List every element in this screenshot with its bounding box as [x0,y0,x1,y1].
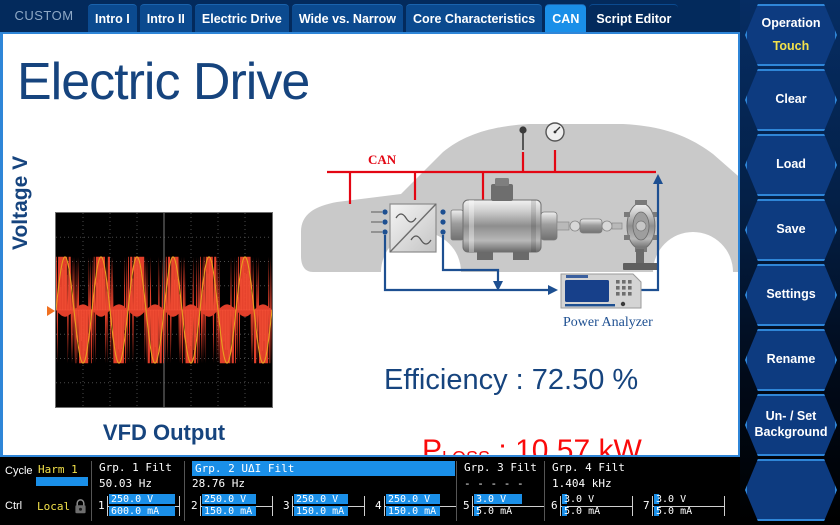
status-group-4: Grp. 4 Filt1.404 kHz63.0 V5.0 mA73.0 V5.… [548,457,740,525]
softkey-shape [745,329,837,391]
status-control-column: Cycle Harm 1 Ctrl Local [0,457,92,525]
main-panel: Electric Drive [0,32,740,457]
channel-number: 3 [283,499,290,512]
group-header[interactable]: Grp. 1 Filt [99,461,172,474]
ctrl-label: Ctrl [5,500,22,512]
power-loss-readout: PLOSS : 10.57 kW [422,434,642,457]
tab-can[interactable]: CAN [545,4,586,32]
current-value: 150.0 mA [202,506,254,517]
power-loss-label: P [422,434,442,457]
cycle-bar [36,477,88,486]
softkey-shape [745,199,837,261]
softkey-shape [745,264,837,326]
channel-number: 6 [551,499,558,512]
channel-7[interactable]: 73.0 V5.0 mA [643,493,725,519]
current-value: 600.0 mA [109,506,161,517]
power-loss-separator: : [490,434,515,457]
channel-5[interactable]: 53.0 V5.0 mA [463,493,545,519]
softkey-save[interactable]: Save [745,199,837,261]
tab-electric-drive[interactable]: Electric Drive [195,4,289,32]
soft-key-sidebar: OperationTouchClearLoadSaveSettingsRenam… [740,0,840,525]
current-value: 5.0 mA [654,506,694,517]
app-root: CUSTOM Intro IIntro IIElectric DriveWide… [0,0,840,525]
channel-number: 7 [643,499,650,512]
voltage-value: 3.0 V [562,494,596,505]
softkey-clear[interactable]: Clear [745,69,837,131]
tab-list: Intro IIntro IIElectric DriveWide vs. Na… [88,4,681,32]
efficiency-label: Efficiency : [384,364,532,396]
softkey-shape [745,134,837,196]
channel-1[interactable]: 1250.0 V600.0 mA [98,493,180,519]
voltage-value: 250.0 V [386,494,432,505]
efficiency-readout: Efficiency : 72.50 % [384,364,638,397]
softkey-load[interactable]: Load [745,134,837,196]
softkey-settings[interactable]: Settings [745,264,837,326]
status-divider [544,461,545,521]
scope-caption: VFD Output [55,420,273,446]
waveform-canvas [56,213,272,407]
cycle-label: Cycle [5,465,33,477]
current-value: 150.0 mA [386,506,438,517]
channel-number: 2 [191,499,198,512]
custom-label: CUSTOM [0,8,88,32]
group-frequency: 28.76 Hz [192,477,245,490]
voltage-value: 3.0 V [474,494,508,505]
voltage-value: 250.0 V [202,494,248,505]
power-loss-value: 10.57 kW [515,434,642,457]
status-divider [184,461,185,521]
softkey-rename[interactable]: Rename [745,329,837,391]
efficiency-value: 72.50 % [532,364,638,396]
group-header[interactable]: Grp. 4 Filt [552,461,625,474]
group-frequency: - - - - - [464,477,524,490]
tab-intro-i[interactable]: Intro I [88,4,137,32]
channel-2[interactable]: 2250.0 V150.0 mA [191,493,273,519]
softkey-un-set-background[interactable]: Un- / Set Background [745,394,837,456]
scope-display[interactable] [55,212,273,408]
page-title: Electric Drive [17,56,309,108]
status-bar: Cycle Harm 1 Ctrl Local Grp. 1 Filt50.03… [0,457,740,525]
status-divider [456,461,457,521]
voltage-value: 250.0 V [294,494,340,505]
tab-intro-ii[interactable]: Intro II [140,4,192,32]
channel-number: 1 [98,499,105,512]
drivetrain-diagram: CAN [293,42,738,342]
group-header[interactable]: Grp. 2 UΔI Filt [192,461,455,476]
softkey-empty[interactable] [745,459,837,521]
channel-6[interactable]: 63.0 V5.0 mA [551,493,633,519]
group-frequency: 50.03 Hz [99,477,152,490]
voltage-value: 250.0 V [109,494,155,505]
power-analyzer-block [561,274,641,308]
tab-core-characteristics[interactable]: Core Characteristics [406,4,542,32]
status-divider [91,461,92,521]
softkey-shape [745,69,837,131]
channel-number: 4 [375,499,382,512]
softkey-operation[interactable]: OperationTouch [745,4,837,66]
power-analyzer-label: Power Analyzer [563,315,653,330]
current-value: 150.0 mA [294,506,346,517]
tab-wide-vs-narrow[interactable]: Wide vs. Narrow [292,4,403,32]
current-value: 5.0 mA [562,506,602,517]
status-group-3: Grp. 3 Filt- - - - -53.0 V5.0 mA [460,457,547,525]
ctrl-value[interactable]: Local [37,500,70,513]
softkey-shape [745,459,837,521]
cycle-value[interactable]: Harm 1 [38,463,78,476]
channel-4[interactable]: 4250.0 V150.0 mA [375,493,457,519]
can-bus-label: CAN [368,152,397,167]
trigger-marker-icon [47,306,55,316]
current-value: 5.0 mA [474,506,514,517]
pressure-gauge-icon [546,123,564,141]
softkey-shape [745,394,837,456]
power-loss-subscript: LOSS [442,448,490,457]
scope-y-axis-label: Voltage V [9,156,33,250]
group-header[interactable]: Grp. 3 Filt [464,461,537,474]
tab-script-editor[interactable]: Script Editor [589,4,678,32]
group-frequency: 1.404 kHz [552,477,612,490]
status-group-2: Grp. 2 UΔI Filt28.76 Hz2250.0 V150.0 mA3… [188,457,459,525]
status-group-1: Grp. 1 Filt50.03 Hz1250.0 V600.0 mA [95,457,187,525]
voltage-value: 3.0 V [654,494,688,505]
lock-icon [74,499,87,514]
tab-bar: CUSTOM Intro IIntro IIElectric DriveWide… [0,0,740,32]
channel-3[interactable]: 3250.0 V150.0 mA [283,493,365,519]
softkey-shape [745,4,837,66]
channel-number: 5 [463,499,470,512]
